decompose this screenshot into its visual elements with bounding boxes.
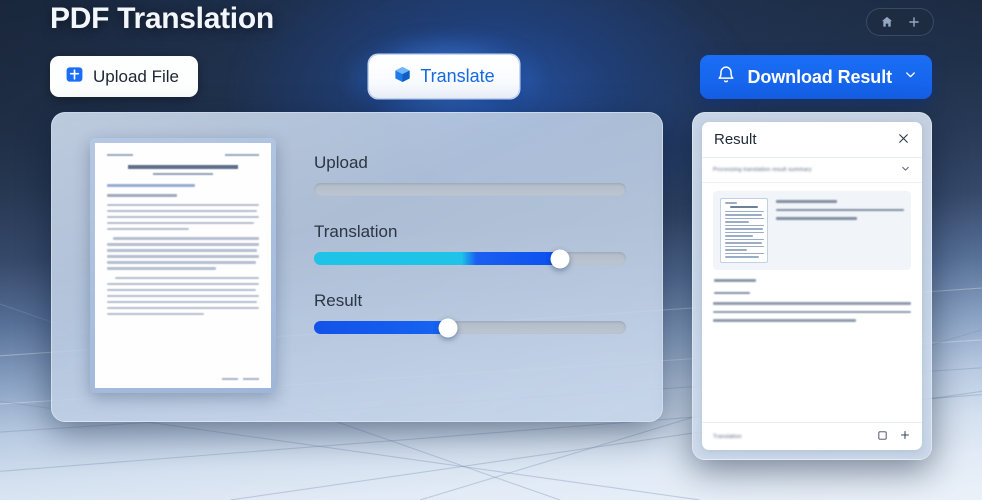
document-paragraph xyxy=(107,194,259,197)
page-title: PDF Translation xyxy=(50,2,274,36)
document-subtitle-line xyxy=(153,173,214,175)
home-add-pill[interactable] xyxy=(866,8,934,36)
slider-fill-translation xyxy=(314,252,560,265)
upload-file-label: Upload File xyxy=(93,67,179,87)
result-footer-label: Translation xyxy=(713,434,742,440)
result-footer-icons xyxy=(877,428,911,446)
slider-fill-result xyxy=(314,321,448,334)
result-dropdown-value: Processing translation result summary xyxy=(713,167,812,173)
document-meta-right xyxy=(225,154,259,156)
list-item[interactable] xyxy=(713,191,911,270)
slider-track-upload[interactable] xyxy=(314,183,626,196)
upload-file-button[interactable]: Upload File xyxy=(50,56,198,97)
slider-label-result: Result xyxy=(314,291,626,311)
chevron-down-icon[interactable] xyxy=(900,161,911,179)
slider-row-result: Result xyxy=(314,291,626,334)
translate-button[interactable]: Translate xyxy=(369,55,519,98)
slider-label-upload: Upload xyxy=(314,153,626,173)
slider-group: Upload Translation Result xyxy=(314,153,626,334)
document-title-line xyxy=(128,165,237,169)
document-paragraph xyxy=(107,237,259,270)
result-section-heading xyxy=(714,292,750,295)
slider-thumb-translation[interactable] xyxy=(551,249,570,268)
result-header: Result xyxy=(702,122,922,158)
slider-row-upload: Upload xyxy=(314,153,626,196)
checkbox-icon[interactable] xyxy=(877,428,888,446)
result-dropdown[interactable]: Processing translation result summary xyxy=(702,158,922,183)
document-paragraph xyxy=(107,204,259,231)
slider-label-translation: Translation xyxy=(314,222,626,242)
document-paragraph xyxy=(107,184,259,187)
slider-track-result[interactable] xyxy=(314,321,626,334)
result-panel: Result Processing translation result sum… xyxy=(692,112,932,460)
translate-button-wrap: Translate xyxy=(369,55,519,98)
document-preview[interactable] xyxy=(90,138,276,393)
plus-icon[interactable] xyxy=(899,428,911,446)
bell-icon xyxy=(716,65,736,90)
result-item-text xyxy=(776,198,904,263)
result-item-caption xyxy=(714,279,756,282)
result-card: Result Processing translation result sum… xyxy=(702,122,922,450)
result-footer: Translation xyxy=(702,422,922,450)
plus-icon[interactable] xyxy=(907,15,921,29)
document-meta xyxy=(107,154,259,156)
result-title: Result xyxy=(714,131,757,148)
document-meta-left xyxy=(107,154,133,156)
upload-file-icon xyxy=(65,65,84,89)
document-footer xyxy=(222,378,259,380)
home-icon[interactable] xyxy=(880,15,894,29)
slider-row-translation: Translation xyxy=(314,222,626,265)
cube-icon xyxy=(393,65,412,89)
download-result-label: Download Result xyxy=(747,67,892,88)
chevron-down-icon[interactable] xyxy=(903,67,918,87)
slider-thumb-result[interactable] xyxy=(439,318,458,337)
close-icon[interactable] xyxy=(897,132,910,147)
result-body xyxy=(702,183,922,422)
document-paragraph xyxy=(107,277,259,316)
document-page xyxy=(95,143,271,388)
result-document-thumbnail xyxy=(720,198,768,263)
translate-label: Translate xyxy=(420,66,494,87)
main-panel: Upload Translation Result xyxy=(51,112,663,422)
download-result-button[interactable]: Download Result xyxy=(700,55,932,99)
slider-track-translation[interactable] xyxy=(314,252,626,265)
result-section-paragraph xyxy=(713,302,911,322)
